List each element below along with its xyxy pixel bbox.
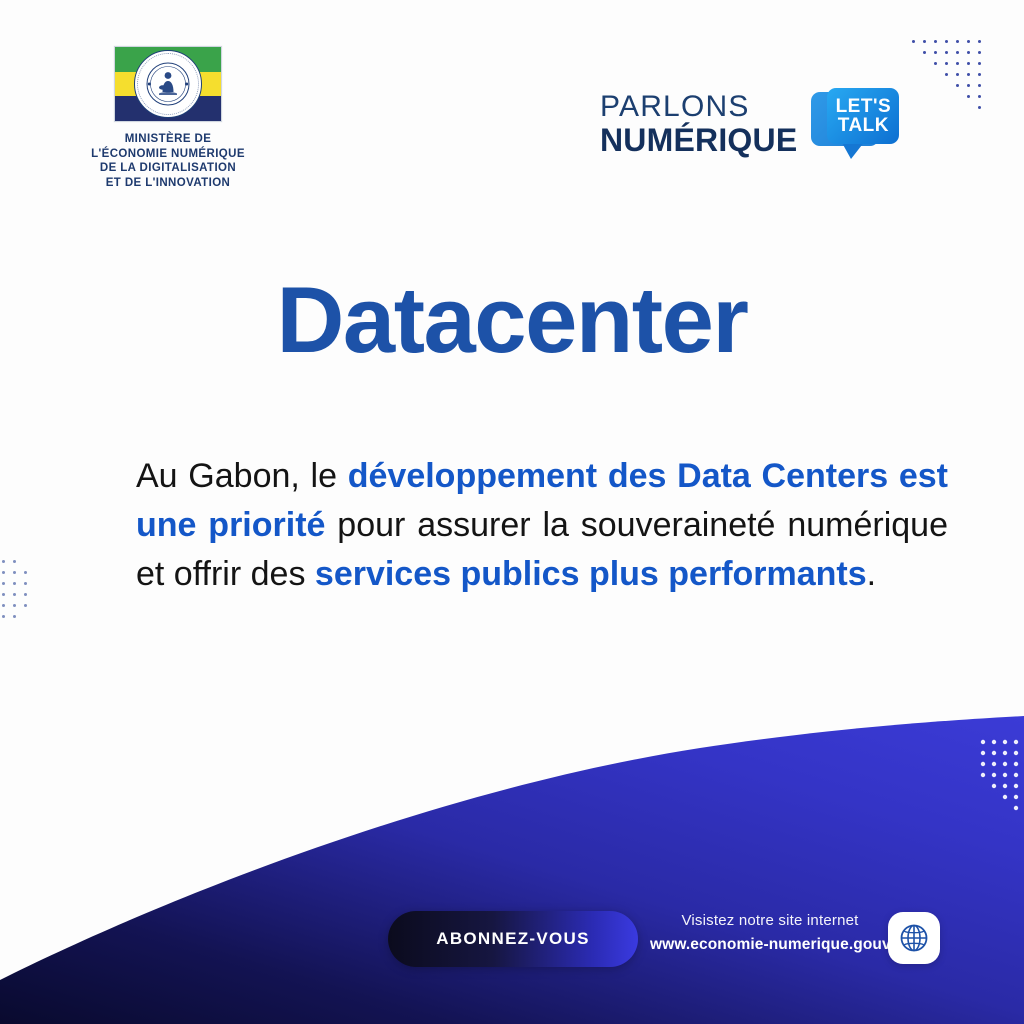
website-info: Visistez notre site internet www.economi…: [650, 912, 890, 954]
decorative-dot: [981, 773, 985, 777]
decorative-dot: [1003, 751, 1007, 755]
bottom-wave-decoration: [0, 0, 1024, 1024]
decorative-dot: [1014, 784, 1018, 788]
poster-canvas: MINISTÈRE DE L'ÉCONOMIE NUMÉRIQUE DE LA …: [0, 0, 1024, 1024]
decorative-dot: [1003, 773, 1007, 777]
decorative-dot: [1014, 795, 1018, 799]
decorative-dot: [981, 751, 985, 755]
decorative-dot: [992, 773, 996, 777]
decorative-dot: [1003, 740, 1007, 744]
decorative-dot: [1003, 762, 1007, 766]
website-url[interactable]: www.economie-numerique.gouv.ga: [650, 936, 890, 954]
subscribe-button[interactable]: ABONNEZ-VOUS: [388, 911, 638, 967]
decorative-dot: [992, 784, 996, 788]
decorative-dot: [1014, 762, 1018, 766]
decorative-dot: [992, 762, 996, 766]
decorative-dot: [981, 740, 985, 744]
decorative-dot: [1014, 751, 1018, 755]
decorative-dot: [1014, 740, 1018, 744]
globe-icon[interactable]: [888, 912, 940, 964]
decorative-dot: [992, 751, 996, 755]
decorative-dot: [981, 762, 985, 766]
decorative-dot: [1003, 784, 1007, 788]
decorative-dot: [1003, 795, 1007, 799]
visit-site-label: Visistez notre site internet: [650, 912, 890, 929]
decorative-dot: [1014, 806, 1018, 810]
decorative-dot: [992, 740, 996, 744]
decorative-dot: [1014, 773, 1018, 777]
